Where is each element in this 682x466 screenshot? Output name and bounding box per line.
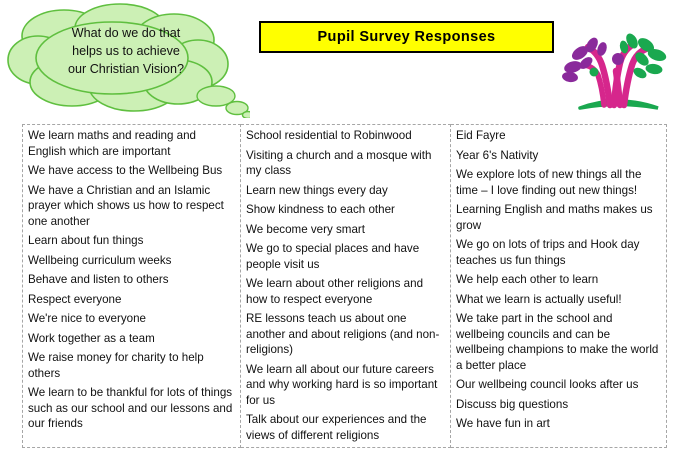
list-item: We take part in the school and wellbeing… [456,311,661,373]
list-item: Behave and listen to others [28,272,235,288]
list-item: We go to special places and have people … [246,241,445,272]
list-item: We learn all about our future careers an… [246,362,445,409]
school-tree-people-logo [558,25,678,115]
responses-column-1: We learn maths and reading and English w… [23,125,241,448]
list-item: Eid Fayre [456,128,661,144]
list-item: Respect everyone [28,292,235,308]
list-item: We learn maths and reading and English w… [28,128,235,159]
list-item: We have access to the Wellbeing Bus [28,163,235,179]
list-item: We have a Christian and an Islamic praye… [28,183,235,230]
list-item: Visiting a church and a mosque with my c… [246,148,445,179]
list-item: Learn new things every day [246,183,445,199]
list-item: We help each other to learn [456,272,661,288]
thought-bubble: What do we do that helps us to achieve o… [2,2,250,118]
list-item: School residential to Robinwood [246,128,445,144]
list-item: We have fun in art [456,416,661,432]
list-item: Year 6's Nativity [456,148,661,164]
list-item: We go on lots of trips and Hook day teac… [456,237,661,268]
list-item: Talk about our experiences and the views… [246,412,445,443]
list-item: We're nice to everyone [28,311,235,327]
list-item: We explore lots of new things all the ti… [456,167,661,198]
list-item: Work together as a team [28,331,235,347]
list-item: Our wellbeing council looks after us [456,377,661,393]
list-item: Show kindness to each other [246,202,445,218]
list-item: We raise money for charity to help other… [28,350,235,381]
page-title: Pupil Survey Responses [317,29,495,45]
list-item: We learn to be thankful for lots of thin… [28,385,235,432]
list-item: Learning English and maths makes us grow [456,202,661,233]
list-item: Wellbeing curriculum weeks [28,253,235,269]
list-item: Discuss big questions [456,397,661,413]
tree-people-logo-icon [558,25,678,115]
list-item: RE lessons teach us about one another an… [246,311,445,358]
list-item: Learn about fun things [28,233,235,249]
responses-column-3: Eid Fayre Year 6's Nativity We explore l… [451,125,667,448]
pupil-responses-table: We learn maths and reading and English w… [22,124,667,448]
thought-bubble-text: What do we do that helps us to achieve o… [38,24,214,78]
list-item: We become very smart [246,222,445,238]
responses-column-2: School residential to Robinwood Visiting… [241,125,451,448]
table-row: We learn maths and reading and English w… [23,125,667,448]
list-item: We learn about other religions and how t… [246,276,445,307]
list-item: What we learn is actually useful! [456,292,661,308]
title-banner: Pupil Survey Responses [259,21,554,53]
